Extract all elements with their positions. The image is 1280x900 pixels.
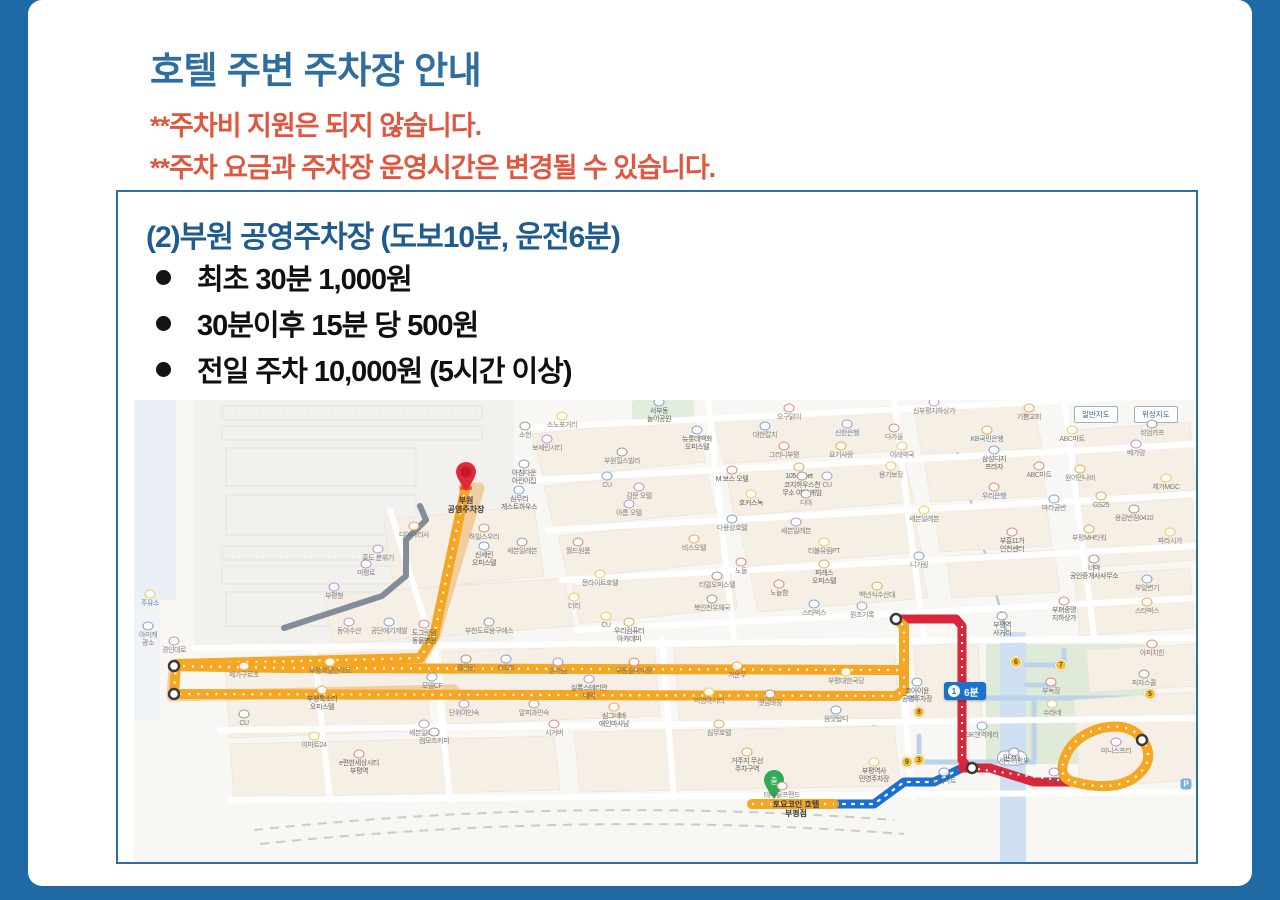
poi-marker-icon [595, 570, 606, 579]
section-heading: (2)부원 공영주차장 (도보10분, 운전6분) [146, 212, 620, 256]
numbered-waypoint[interactable]: 5 [1144, 688, 1156, 700]
poi-label: 세투리항부 [999, 758, 1029, 766]
poi-marker-icon [765, 690, 776, 699]
poi-label: 노늘함 [770, 590, 788, 598]
poi-marker-icon [143, 622, 154, 631]
poi-label: 뉴롯데백화오피스텔 [682, 436, 712, 452]
bullet-dot-icon [156, 270, 171, 285]
poi-marker-icon [779, 442, 790, 451]
list-item: 전일 주차 10,000원 (5시간 이상) [150, 346, 1150, 392]
poi-label: GS25 [1093, 502, 1109, 510]
poi-marker-icon [1096, 492, 1107, 501]
poi-label: 미니스프리 [1101, 748, 1131, 756]
poi-marker-icon [1049, 495, 1060, 504]
poi-marker-icon [169, 637, 180, 646]
poi-label: 우리은행 [982, 493, 1006, 501]
poi-marker-icon [419, 720, 430, 729]
numbered-waypoint[interactable]: 8 [913, 706, 925, 718]
poi-label: 수라네 [1043, 710, 1061, 718]
destination-pin-label: 부원 공영주차장 [448, 496, 485, 514]
poi-label: 다용상호텔 [717, 525, 747, 533]
poi-marker-icon [239, 710, 250, 719]
poi-marker-icon [760, 422, 771, 431]
poi-marker-icon [1147, 640, 1158, 649]
fee-line-2: 30분이후 15분 당 500원 [197, 302, 478, 344]
poi-marker-icon [145, 590, 156, 599]
poi-marker-icon [742, 748, 753, 757]
poi-marker-icon [520, 422, 531, 431]
poi-label: 신부평지하상가 [913, 408, 955, 416]
poi-label: 부녹장 [1042, 688, 1060, 696]
route-badge-number: 1 [948, 685, 960, 697]
poi-marker-icon [989, 446, 1000, 455]
poi-marker-icon [239, 662, 250, 671]
poi-label: 부펴종명지하상가 [1052, 607, 1076, 623]
poi-marker-icon [429, 728, 440, 737]
poi-label: 아침다운아린이집 [512, 470, 536, 486]
poi-label: 백년식수산대 [859, 592, 895, 600]
poi-marker-icon [1131, 440, 1142, 449]
poi-label: CU [239, 720, 248, 728]
poi-marker-icon [584, 675, 595, 684]
poi-marker-icon [1009, 748, 1020, 757]
poi-marker-icon [1111, 738, 1122, 747]
poi-marker-icon [1075, 465, 1086, 474]
poi-marker-icon [1067, 426, 1078, 435]
poi-label: 펠컨림 [457, 665, 475, 673]
poi-label: 쉬엄카프 [1140, 430, 1164, 438]
poi-label: 부원힐스빌라 [604, 458, 640, 466]
poi-label: CU [601, 622, 610, 630]
poi-marker-icon [727, 466, 738, 475]
poi-marker-icon [914, 552, 925, 561]
poi-marker-icon [746, 490, 757, 499]
poi-marker-icon [514, 486, 525, 495]
poi-marker-icon [601, 612, 612, 621]
poi-marker-icon [841, 668, 852, 677]
poi-label: CU [822, 482, 831, 490]
poi-label: 그리니부평 [769, 452, 799, 460]
poi-label: 부천도로용구에스 [465, 628, 513, 636]
poi-label: 제가구르초 [229, 672, 259, 680]
poi-label: 요기사랑 [829, 452, 853, 460]
poi-marker-icon [427, 673, 438, 682]
list-item: 최초 30분 1,000원 [150, 254, 1150, 300]
poi-marker-icon [317, 686, 328, 695]
poi-label: 오구닭이 [777, 414, 801, 422]
poi-marker-icon [1147, 420, 1158, 429]
poi-marker-icon [542, 435, 553, 444]
poi-marker-icon [1165, 528, 1176, 537]
poi-marker-icon [461, 655, 472, 664]
poi-marker-icon [609, 703, 620, 712]
poi-label: 티뷸유림PT [808, 548, 840, 556]
poi-marker-icon [479, 542, 490, 551]
poi-label: 베가망 [1127, 450, 1145, 458]
poi-label: 보세린시티 [532, 445, 562, 453]
poi-label: 마라곰반 [1042, 505, 1066, 513]
poi-label: 피자스콜 [1132, 680, 1156, 688]
fee-line-3: 전일 주차 10,000원 (5시간 이상) [197, 348, 572, 390]
poi-marker-icon [344, 618, 355, 627]
poi-marker-icon [791, 518, 802, 527]
poi-label: 심무리게스트하우스 [501, 496, 537, 512]
poi-label: 대한칼치 [753, 432, 777, 440]
poi-label: 심그네바애인마사남 [599, 713, 629, 729]
poi-label: 소노포거리 [547, 422, 577, 430]
poi-label: 도그랑덩동물병원 [412, 630, 436, 646]
poi-marker-icon [1089, 555, 1100, 564]
poi-marker-icon [1024, 404, 1035, 413]
poi-marker-icon [501, 655, 512, 664]
poi-label: 문라이트호텔 [582, 580, 618, 588]
poi-marker-icon [1046, 678, 1057, 687]
poi-marker-icon [732, 662, 743, 671]
poi-label: 노돌 [735, 568, 747, 576]
poi-label: 부평MH타워 [1072, 535, 1106, 543]
poi-marker-icon [1034, 462, 1045, 471]
poi-label: 용기보장 [879, 472, 903, 480]
poi-label: 심무호텔 [707, 730, 731, 738]
poi-marker-icon [1007, 528, 1018, 537]
poi-label: 부평역사거리 [993, 622, 1011, 638]
poi-label: e편한세상시티부평역 [339, 760, 379, 776]
poi-label: ABC마트 [1059, 436, 1084, 444]
numbered-waypoint[interactable]: 7 [1055, 659, 1067, 671]
list-item: 30분이후 15분 당 500원 [150, 300, 1150, 346]
poi-marker-icon [419, 620, 430, 629]
poi-label: GS25 [498, 665, 514, 673]
poi-label: 부평역사민영주차장 [859, 768, 889, 784]
bullet-dot-icon [156, 316, 171, 331]
poi-label: 디아 [800, 500, 812, 508]
poi-marker-icon [325, 658, 336, 667]
poi-marker-icon [982, 426, 993, 435]
poi-label: 캠모즈커피 [419, 738, 449, 746]
poi-marker-icon [384, 618, 395, 627]
poi-label: 소헌 [519, 432, 531, 440]
numbered-waypoint[interactable]: 3 [913, 754, 925, 766]
poi-marker-icon [689, 535, 700, 544]
poi-label: 호커스녹 [739, 500, 763, 508]
poi-label: 피레스오피스텔 [812, 570, 836, 586]
poi-marker-icon [819, 560, 830, 569]
poi-label: 북인천우체국 [694, 605, 730, 613]
poi-label: 삼성디지프라자 [982, 456, 1006, 472]
poi-label: 테마골프랜드 [764, 792, 800, 800]
poi-marker-icon [557, 412, 568, 421]
origin-place-label: 토요코인 호텔 부평점 [773, 800, 819, 818]
poi-label: 겨운무 [728, 672, 746, 680]
poi-label: KB국민은행 [971, 436, 1004, 444]
bullet-dot-icon [156, 362, 171, 377]
poi-marker-icon [573, 538, 584, 547]
poi-marker-icon [553, 658, 564, 667]
poi-marker-icon [889, 424, 900, 433]
poi-label: 원조기록 [850, 612, 874, 620]
poi-label: 세븐일레븐 [781, 528, 811, 536]
poi-label: 아피치힌 [1140, 650, 1164, 658]
poi-label: 너마공인중개사사무소 [1070, 565, 1118, 581]
poi-marker-icon [629, 658, 640, 667]
poi-marker-icon [617, 448, 628, 457]
poi-marker-icon [809, 600, 820, 609]
parking-marker-icon[interactable]: P [1181, 779, 1192, 790]
poi-marker-icon [634, 483, 645, 492]
poi-marker-icon [1084, 525, 1095, 534]
poi-marker-icon [329, 583, 340, 592]
poi-marker-icon [819, 538, 830, 547]
poi-label: 용감반점0410 [1115, 515, 1153, 523]
poi-label: SK앤역케리 [966, 732, 999, 740]
poi-label: 신세린오피스텔 [472, 552, 496, 568]
poi-label: 경인대로 [162, 647, 186, 655]
poi-marker-icon [409, 522, 420, 531]
poi-label: 더리 [568, 603, 580, 611]
route-time-badge[interactable]: 1 6분 [944, 682, 986, 700]
poi-label: 스타벅스 [1135, 608, 1159, 616]
poi-marker-icon [797, 472, 808, 481]
poi-marker-icon [774, 580, 785, 589]
numbered-waypoint[interactable]: 9 [901, 756, 913, 768]
poi-label: 세븐일레븐 [909, 516, 939, 524]
poi-label: 부평형 [325, 593, 343, 601]
parking-info-box: (2)부원 공영주차장 (도보10분, 운전6분) 최초 30분 1,000원 … [116, 190, 1198, 864]
poi-label: 미평로 [357, 570, 375, 578]
poi-label: 동아수산 [337, 628, 361, 636]
poi-label: 이레약국 [890, 452, 914, 460]
poi-label: 롯데마트 [932, 778, 956, 786]
poi-label: 월드원룸 [566, 548, 590, 556]
poi-label: 디아마리사 [399, 532, 429, 540]
poi-label: 스타벅스 [802, 610, 826, 618]
poi-marker-icon [692, 426, 703, 435]
poi-label: 신한은행 [835, 430, 859, 438]
poi-marker-icon [707, 595, 718, 604]
poi-label: 티멀오피스텔 [699, 582, 735, 590]
poi-marker-icon [727, 515, 738, 524]
poi-label: 부일변기 [1135, 585, 1159, 593]
poi-marker-icon [801, 490, 812, 499]
poi-label: 우리컴퓨터아카데미 [614, 628, 644, 644]
poi-label: 실록스테리안네익 [571, 685, 607, 701]
poi-marker-icon [977, 722, 988, 731]
poi-marker-icon [919, 506, 930, 515]
poi-label: 부평대한국당 [828, 678, 864, 686]
poi-label: KFC [1048, 778, 1061, 786]
poi-label: 주유소 [141, 600, 159, 608]
fee-line-1: 최초 30분 1,000원 [197, 256, 412, 298]
poi-label: 아름 오텔 [616, 510, 642, 518]
poi-marker-icon [939, 768, 950, 777]
poi-label: 알피과민숙 [519, 710, 549, 718]
poi-marker-icon [1161, 474, 1172, 483]
poi-marker-icon [624, 500, 635, 509]
poi-label: 거주지 무선주차구역 [731, 758, 763, 774]
slide-card: 호텔 주변 주차장 안내 **주차비 지원은 되지 않습니다. **주차 요금과… [28, 0, 1252, 886]
fee-bullet-list: 최초 30분 1,000원 30분이후 15분 당 500원 전일 주차 10,… [150, 254, 1150, 392]
poi-marker-icon [354, 750, 365, 759]
poi-label: 옛남바장 [758, 700, 782, 708]
poi-marker-icon [549, 720, 560, 729]
poi-label: 모텔CF [422, 683, 443, 691]
poi-marker-icon [794, 463, 805, 472]
poi-label: 이마트24 [301, 742, 326, 750]
poi-marker-icon [1139, 670, 1150, 679]
poi-label: ABC마트 [1026, 472, 1051, 480]
poi-label: 니기링 [910, 562, 928, 570]
poi-marker-icon [1142, 598, 1153, 607]
route-badge-time: 6분 [964, 684, 979, 699]
poi-marker-icon [1049, 768, 1060, 777]
poi-label: 세븐일레븐 [507, 548, 537, 556]
poi-label: 시거버 [545, 730, 563, 738]
poi-label: 서부동놀이공원 [647, 408, 671, 424]
poi-marker-icon [712, 572, 723, 581]
poi-marker-icon [517, 538, 528, 547]
poi-marker-icon [842, 420, 853, 429]
route-orange-upper [174, 666, 904, 670]
poi-marker-icon [872, 582, 883, 591]
poi-label: 기쁨교회 [1017, 414, 1041, 422]
poi-marker-icon [361, 560, 372, 569]
poi-label: 온가슴 [549, 668, 567, 676]
poi-marker-icon [1129, 505, 1140, 514]
poi-marker-icon [484, 618, 495, 627]
numbered-waypoint[interactable]: 6 [1010, 656, 1022, 668]
poi-marker-icon [886, 462, 897, 471]
poi-marker-icon [569, 593, 580, 602]
poi-marker-icon [777, 782, 788, 791]
poi-label: 제가MGC [1152, 484, 1179, 492]
poi-label: 음맛탑디 [824, 716, 848, 724]
poi-marker-icon [822, 472, 833, 481]
poi-marker-icon [459, 700, 470, 709]
poi-label: M 보스 오텔 [716, 476, 749, 484]
poi-marker-icon [519, 460, 530, 469]
poi-marker-icon [831, 706, 842, 715]
poi-marker-icon [897, 442, 908, 451]
poi-marker-icon [373, 545, 384, 554]
poi-marker-icon [857, 602, 868, 611]
poi-marker-icon [912, 678, 923, 687]
page-title: 호텔 주변 주차장 안내 [150, 40, 481, 94]
poi-label: 미영아시티 [694, 698, 724, 706]
poi-label: 아미캐광소 [139, 632, 157, 648]
poi-label: 부평톡소리오피스텔 [307, 696, 337, 712]
poi-label: 부흥11가인천센터 [1000, 538, 1025, 554]
poi-marker-icon [529, 700, 540, 709]
poi-label: CU [602, 482, 611, 490]
poi-marker-icon [309, 732, 320, 741]
poi-marker-icon [602, 472, 613, 481]
poi-label: 부평역힐안아트 [309, 668, 351, 676]
poi-label: 튀팡슬마미팡 [616, 668, 652, 676]
poi-label: 비스오텔 [682, 545, 706, 553]
poi-marker-icon [997, 612, 1008, 621]
maptype-normal-button[interactable]: 일반지도 [1074, 406, 1118, 423]
poi-label: 파라시가 [1158, 538, 1182, 546]
outer-frame: 호텔 주변 주차장 안내 **주차비 지원은 되지 않습니다. **주차 요금과… [0, 0, 1280, 900]
poi-marker-icon [704, 688, 715, 697]
poi-marker-icon [736, 558, 747, 567]
poi-marker-icon [1059, 597, 1070, 606]
poi-marker-icon [836, 442, 847, 451]
poi-marker-icon [1047, 700, 1058, 709]
poi-marker-icon [479, 524, 490, 533]
poi-marker-icon [714, 720, 725, 729]
poi-label: 단위여인숙 [449, 710, 479, 718]
poi-marker-icon [624, 618, 635, 627]
poi-label: 공단에기개발 [371, 628, 407, 636]
poi-label: 원어민나비 [1065, 475, 1095, 483]
poi-marker-icon [784, 404, 795, 413]
destination-pin-icon[interactable] [454, 462, 478, 492]
warning-text-1: **주차비 지원은 되지 않습니다. [150, 104, 481, 143]
warning-text-2: **주차 요금과 주차장 운영시간은 변경될 수 있습니다. [150, 146, 715, 185]
route-map[interactable]: 일반지도 위성지도 부원 공영주차장 출 [134, 400, 1196, 862]
poi-marker-icon [989, 483, 1000, 492]
poi-marker-icon [1142, 575, 1153, 584]
poi-label: 코아이윤공영주차장 [902, 688, 932, 704]
poi-marker-icon [869, 758, 880, 767]
